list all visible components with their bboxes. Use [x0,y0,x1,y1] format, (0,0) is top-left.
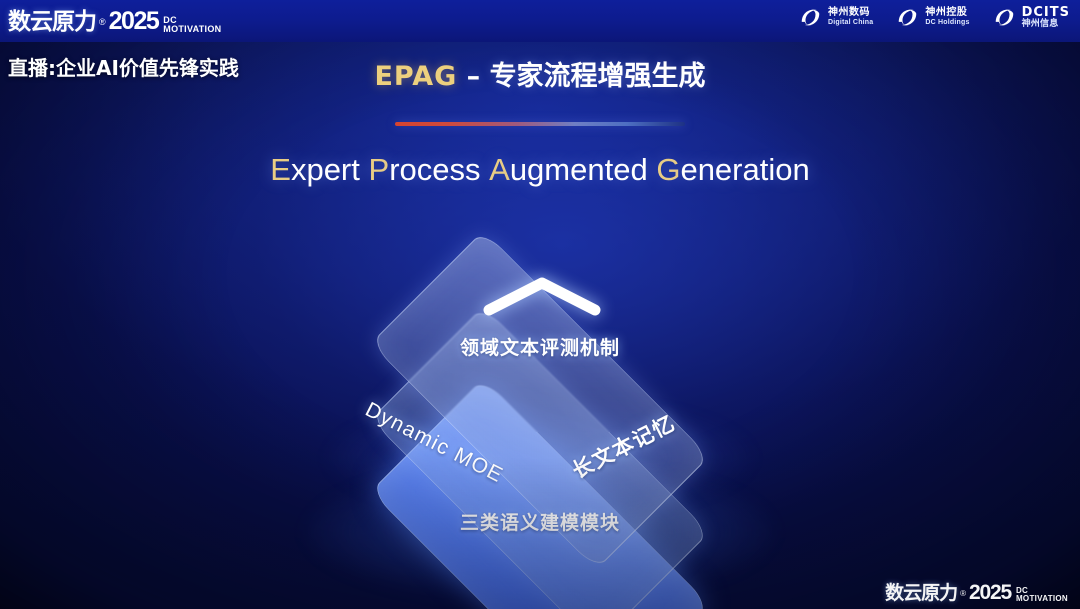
subtitle-word-1-rest: xpert [291,152,360,187]
footer-logo-sub-line2: MOTIVATION [1016,595,1068,603]
swirl-logo-icon [992,5,1017,30]
footer-logo-year: 2025 [969,581,1011,605]
stack-layer-top [380,240,700,560]
subtitle-word-4-cap: G [656,152,680,187]
partner-name-en: 神州信息 [1022,18,1070,28]
partner-name-cn: DCITS [1022,8,1070,18]
partner-name-en: Digital China [828,18,873,28]
swirl-logo-icon [895,5,920,30]
brand-logo-subtitle: DC MOTIVATION [163,16,221,34]
swirl-logo-icon [798,5,823,30]
partner-logo-dcits: DCITS 神州信息 [992,5,1070,30]
subtitle-word-1-cap: E [270,152,291,187]
title-divider [395,122,685,126]
partner-logo-digital-china: 神州数码 Digital China [798,5,873,30]
plate-top [370,230,709,569]
partner-logo-text: 神州控股 DC Holdings [925,8,969,28]
brand-logo-registered: ® [99,17,106,27]
subtitle-word-2-cap: P [369,152,390,187]
footer-watermark-logo: 数云原力 ® 2025 DC MOTIVATION [885,578,1068,605]
footer-logo-subtitle: DC MOTIVATION [1016,587,1068,603]
page-title: EPAG – 专家流程增强生成 [0,54,1080,93]
partner-logo-text: DCITS 神州信息 [1022,8,1070,28]
partner-logo-group: 神州数码 Digital China 神州控股 DC Holdings [798,5,1070,30]
subtitle-word-4-rest: eneration [680,152,809,187]
partner-name-cn: 神州数码 [828,8,873,18]
brand-logo-year: 2025 [109,7,159,36]
slide-canvas: 领域文本评测机制 Dynamic MOE 长文本记忆 三类语义建模模块 数云原力… [0,0,1080,609]
footer-logo-cn: 数云原力 [885,578,957,605]
subtitle-word-3-rest: ugmented [510,152,648,187]
page-title-separator: – [457,61,489,92]
partner-logo-dc-holdings: 神州控股 DC Holdings [895,5,969,30]
subtitle-word-3-cap: A [489,152,510,187]
brand-logo-sub-line2: MOTIVATION [163,25,221,34]
brand-logo-cn: 数云原力 [8,2,96,36]
partner-name-en: DC Holdings [925,18,969,28]
page-title-chinese: 专家流程增强生成 [490,61,706,92]
subtitle-word-2-rest: rocess [389,152,480,187]
page-subtitle: Expert Process Augmented Generation [0,152,1080,188]
brand-logo: 数云原力 ® 2025 DC MOTIVATION [8,2,221,36]
footer-logo-registered: ® [960,589,966,598]
partner-logo-text: 神州数码 Digital China [828,8,873,28]
partner-name-cn: 神州控股 [925,8,969,18]
page-title-acronym: EPAG [374,61,457,92]
